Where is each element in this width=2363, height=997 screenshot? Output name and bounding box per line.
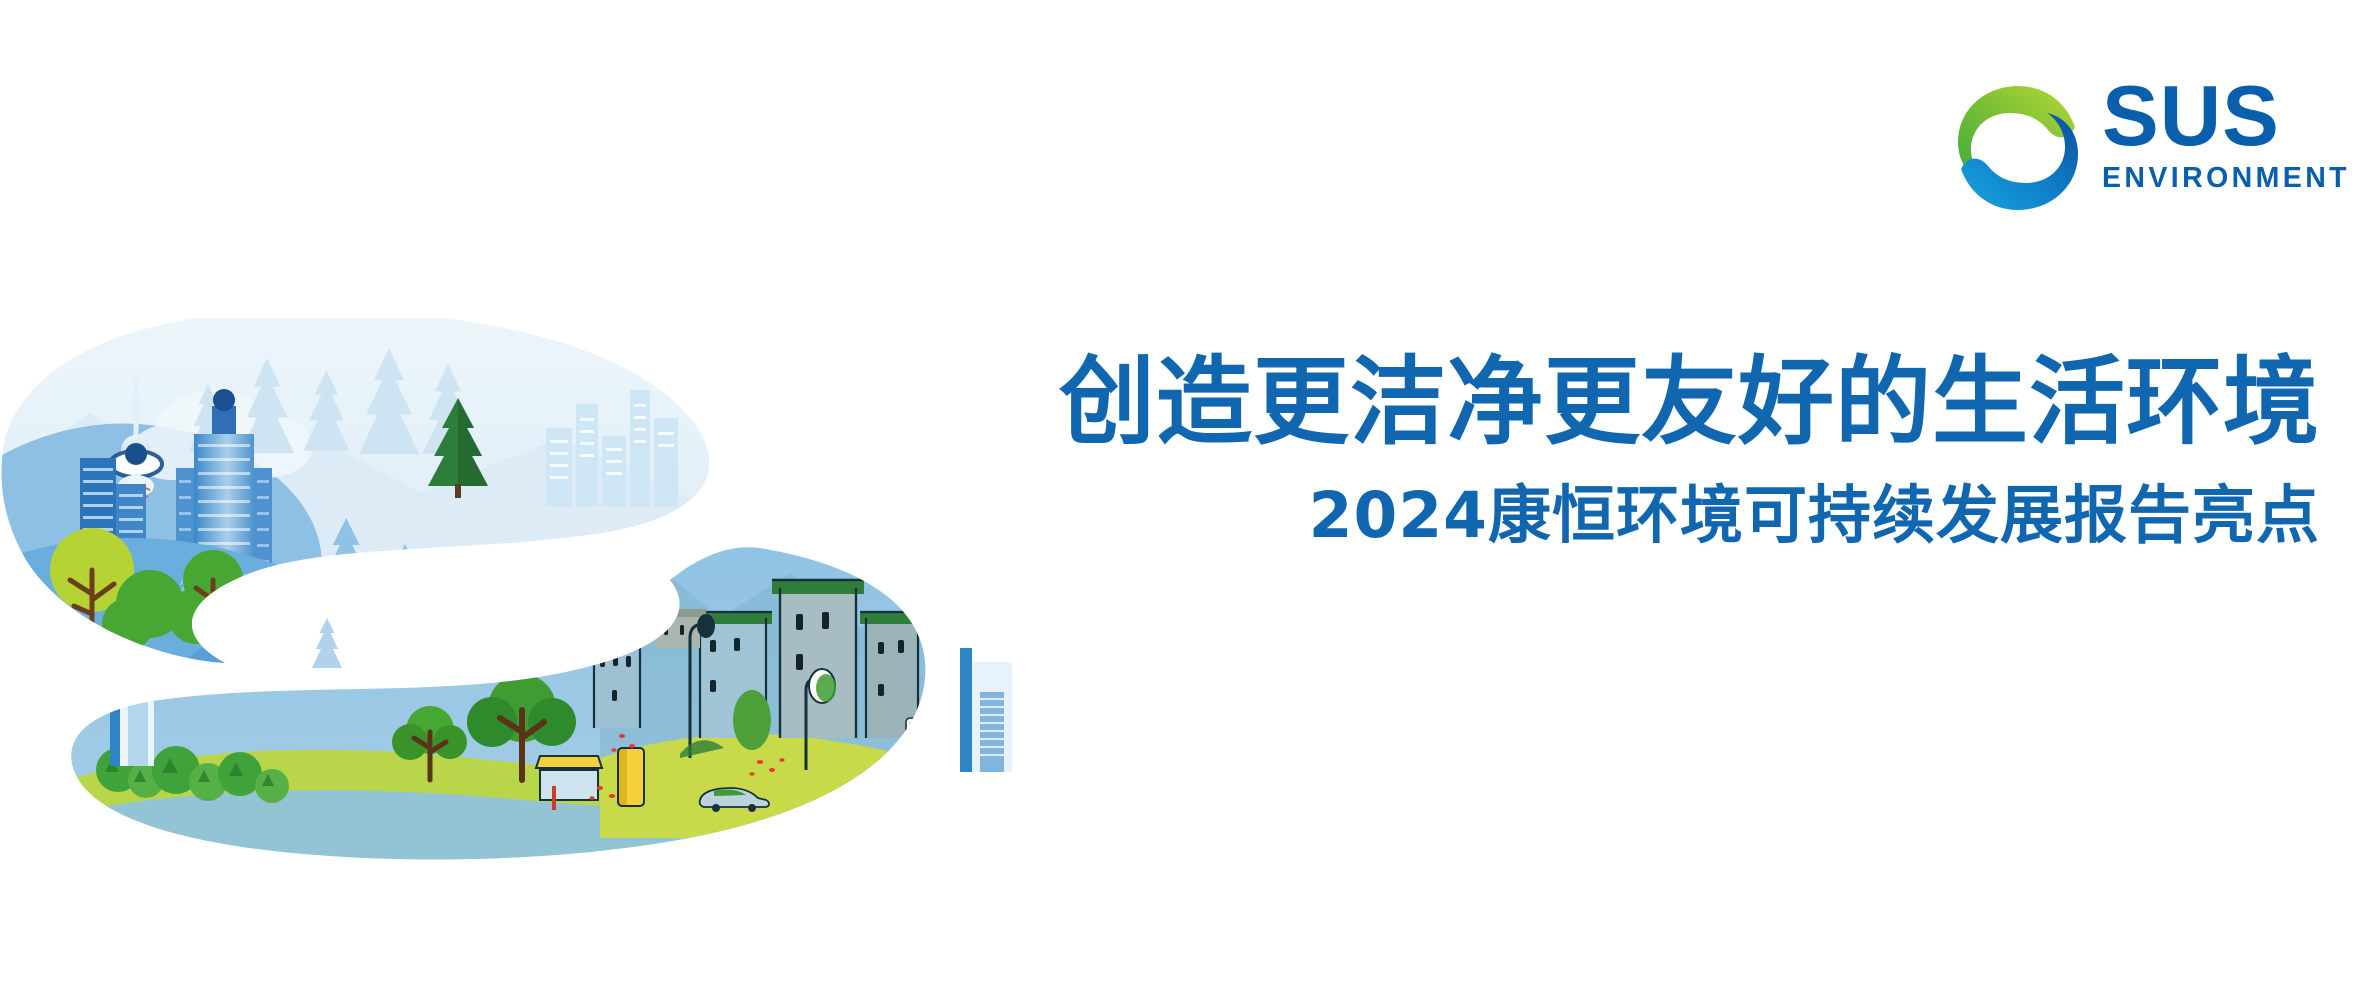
village-car-white xyxy=(906,718,922,740)
brand-wordmark: SUS xyxy=(2102,78,2342,156)
lamp-head-1 xyxy=(697,614,715,638)
village-house-right xyxy=(860,612,924,738)
skyscraper-shoulder-right xyxy=(960,648,1012,772)
village-tree xyxy=(733,690,771,750)
fir-accent-lower xyxy=(312,618,342,668)
village-pole xyxy=(552,786,556,810)
village-house-tall xyxy=(772,580,864,738)
village-stall xyxy=(536,756,602,800)
brand-logo[interactable]: SUS ENVIRONMENT xyxy=(1952,70,2332,230)
brand-tagline: ENVIRONMENT xyxy=(2102,164,2342,193)
hero-illustration xyxy=(0,318,1160,928)
brand-wordmark-block: SUS ENVIRONMENT xyxy=(2102,78,2342,193)
sus-swirl-logo-icon xyxy=(1952,82,2084,214)
village-kiosk xyxy=(618,748,644,806)
banner-root: SUS ENVIRONMENT 创造更洁净更友好的生活环境 2024康恒环境可持… xyxy=(0,0,2363,997)
